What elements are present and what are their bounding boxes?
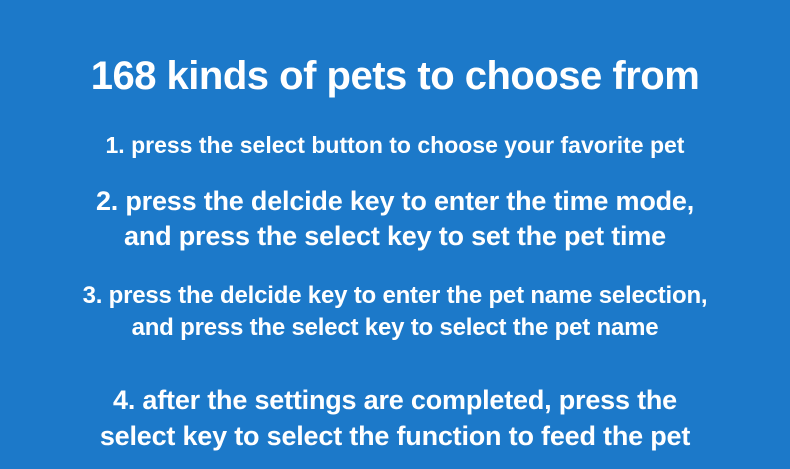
instruction-step-2: 2. press the delcide key to enter the ti… xyxy=(0,184,790,254)
instruction-step-4: 4. after the settings are completed, pre… xyxy=(0,382,790,454)
instruction-step-2-line-2: and press the select key to set the pet … xyxy=(0,219,790,254)
instruction-step-1: 1. press the select button to choose you… xyxy=(0,130,790,160)
instruction-step-2-line-1: 2. press the delcide key to enter the ti… xyxy=(0,184,790,219)
instruction-step-1-line-1: 1. press the select button to choose you… xyxy=(0,130,790,160)
pet-feeder-instruction-poster: 168 kinds of pets to choose from 1. pres… xyxy=(0,0,790,469)
instruction-steps-list: 1. press the select button to choose you… xyxy=(0,130,790,454)
instruction-step-4-line-1: 4. after the settings are completed, pre… xyxy=(0,382,790,418)
page-title: 168 kinds of pets to choose from xyxy=(0,52,790,100)
instruction-step-3-line-1: 3. press the delcide key to enter the pe… xyxy=(0,280,790,312)
instruction-step-3: 3. press the delcide key to enter the pe… xyxy=(0,280,790,344)
instruction-step-4-line-2: select key to select the function to fee… xyxy=(0,418,790,454)
instruction-step-3-line-2: and press the select key to select the p… xyxy=(0,312,790,344)
